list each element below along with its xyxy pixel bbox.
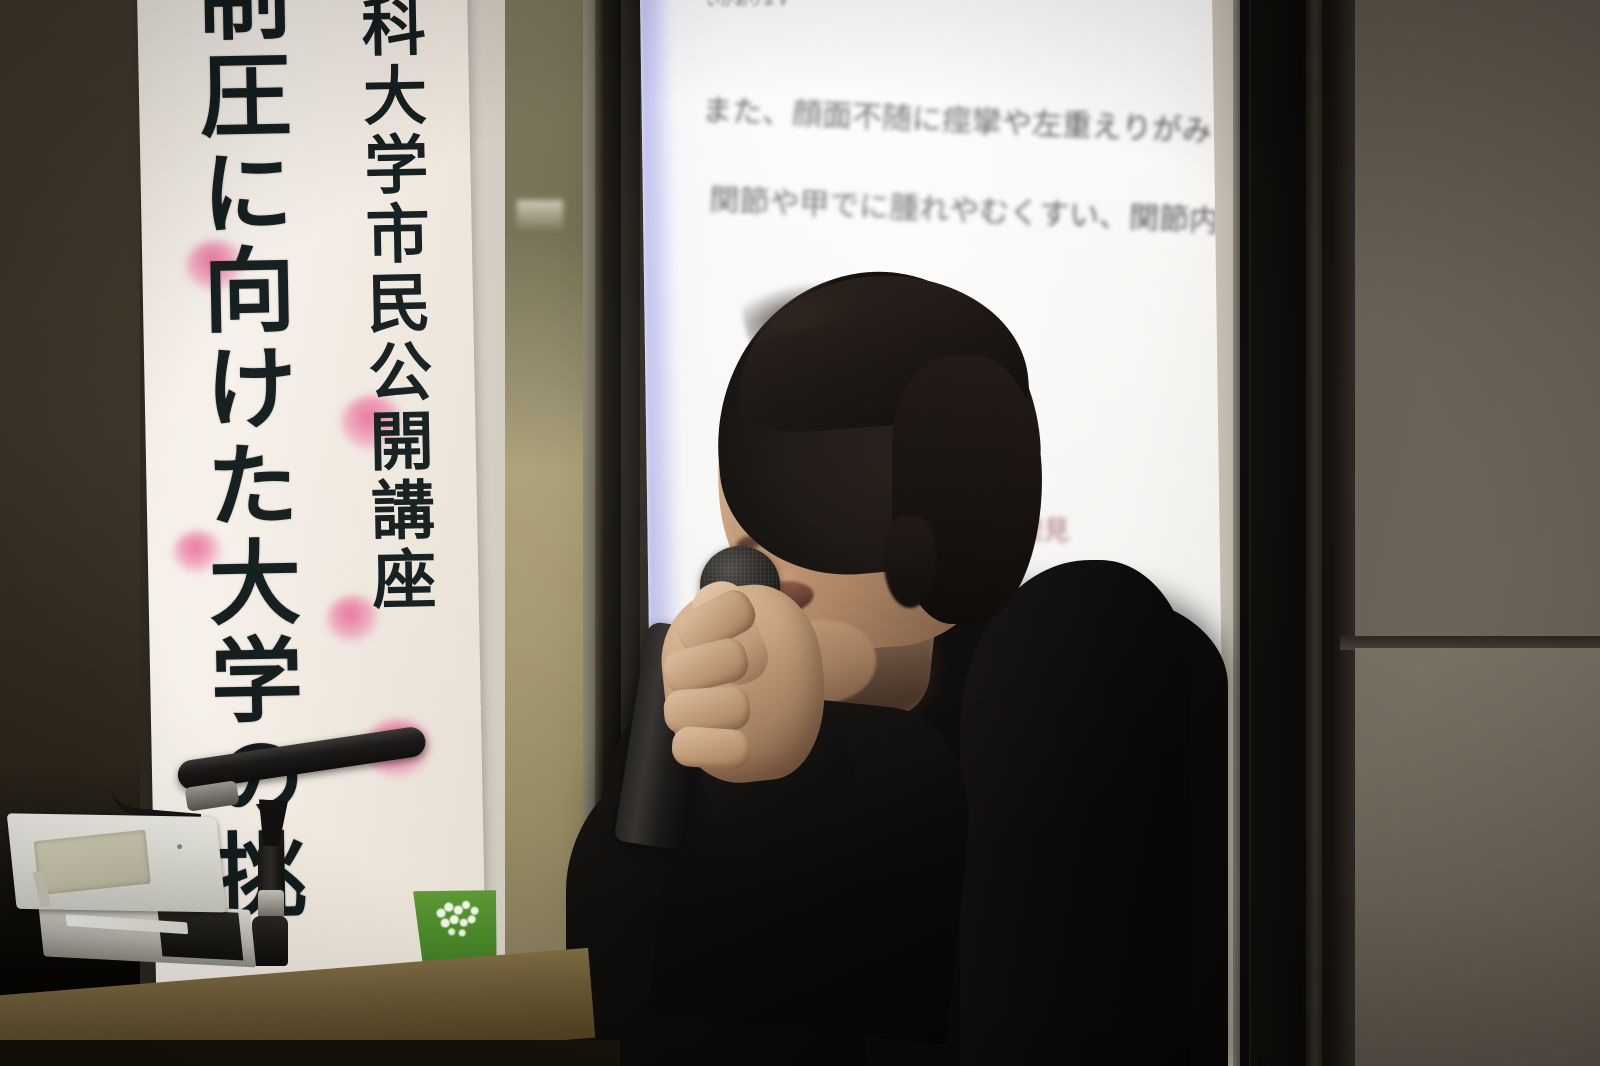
hair-sideburn: [884, 516, 936, 608]
podium-laptop: [8, 802, 254, 975]
finger: [671, 725, 752, 770]
torso-right-shoulder: [960, 560, 1190, 1066]
podium-shadow: [0, 1040, 620, 1066]
photo-scene: いがあります また、顔面不随に痙攣や左重えりがみられるときもあります。 関節や甲…: [0, 0, 1600, 1066]
gooseneck-microphone-stem: [258, 846, 284, 896]
laptop-shadow-gap: [157, 908, 243, 960]
paper-cup-blossom-motif: [428, 896, 489, 946]
gooseneck-microphone-base: [252, 916, 288, 966]
